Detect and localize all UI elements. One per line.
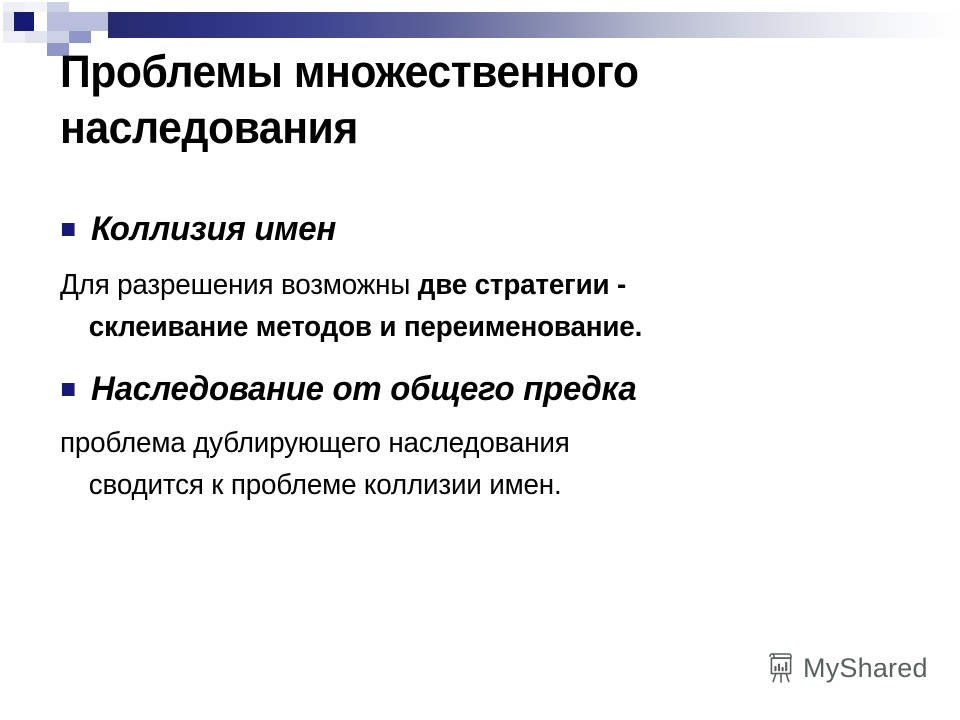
text-run: проблема дублирующего наследования bbox=[60, 427, 570, 459]
square-navy-accent bbox=[14, 12, 34, 31]
text-run-bold: склеивание методов и переименование. bbox=[89, 311, 642, 343]
myshared-watermark-label: MyShared bbox=[803, 655, 928, 682]
square-light-2 bbox=[69, 12, 91, 31]
myshared-watermark: MyShared bbox=[766, 652, 928, 684]
square-bullet-icon bbox=[62, 383, 75, 396]
slide-content: Коллизия имен Для разрешения возможны дв… bbox=[60, 206, 940, 506]
paragraph-line: проблема дублирующего наследования bbox=[60, 422, 905, 464]
paragraph-line: сводится к проблеме коллизии имен. bbox=[60, 464, 905, 506]
bullet-group-2: Наследование от общего предка проблема д… bbox=[60, 366, 940, 506]
square-faint-2 bbox=[3, 31, 25, 43]
square-bullet-icon bbox=[62, 223, 75, 236]
paragraph-line: склеивание методов и переименование. bbox=[60, 306, 905, 348]
square-faint-1 bbox=[3, 12, 14, 31]
bullet-group-1: Коллизия имен Для разрешения возможны дв… bbox=[60, 206, 940, 348]
text-run-bold: две стратегии - bbox=[418, 269, 626, 301]
square-light-1 bbox=[47, 12, 69, 31]
text-run: Для разрешения возможны bbox=[60, 269, 418, 301]
bullet-heading-1-label: Коллизия имен bbox=[91, 210, 336, 248]
square-faint-3 bbox=[25, 31, 47, 43]
square-pale-1 bbox=[3, 2, 25, 12]
slide-canvas: Проблемы множественного наследования Кол… bbox=[0, 0, 960, 720]
gradient-bar bbox=[108, 12, 960, 38]
flipchart-chart-icon bbox=[766, 652, 796, 684]
bullet-paragraph-2: проблема дублирующего наследованиясводит… bbox=[60, 422, 905, 506]
square-light-3 bbox=[91, 12, 108, 31]
square-mid-1 bbox=[69, 31, 91, 43]
page-title: Проблемы множественного наследования bbox=[60, 44, 877, 156]
paragraph-line: Для разрешения возможны две стратегии - bbox=[60, 264, 905, 306]
square-pale-2 bbox=[47, 2, 69, 12]
bullet-heading-1: Коллизия имен bbox=[60, 206, 914, 252]
bullet-heading-2-label: Наследование от общего предка bbox=[91, 370, 636, 408]
bullet-paragraph-1: Для разрешения возможны две стратегии -с… bbox=[60, 264, 905, 348]
text-run: сводится к проблеме коллизии имен. bbox=[89, 469, 562, 501]
square-pale-3 bbox=[47, 31, 69, 43]
square-ghost-1 bbox=[25, 2, 47, 12]
bullet-heading-2: Наследование от общего предка bbox=[60, 366, 914, 412]
